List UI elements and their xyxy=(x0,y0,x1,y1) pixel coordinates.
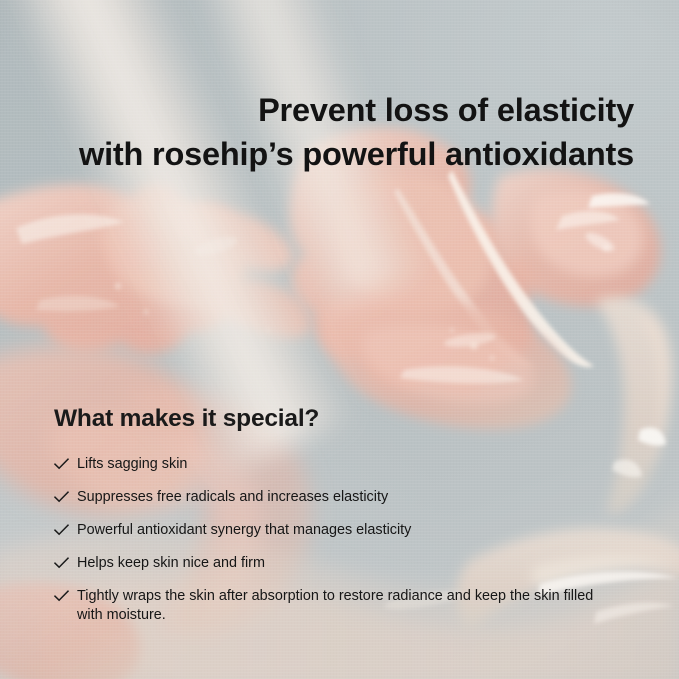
list-item-label: Powerful antioxidant synergy that manage… xyxy=(77,521,614,540)
list-item: Helps keep skin nice and firm xyxy=(54,554,614,573)
headline-line-1: Prevent loss of elasticity xyxy=(40,88,634,132)
feature-list: Lifts sagging skin Suppresses free radic… xyxy=(54,455,614,625)
list-item: Powerful antioxidant synergy that manage… xyxy=(54,521,614,540)
check-icon xyxy=(54,521,69,540)
infographic-canvas: Prevent loss of elasticity with rosehip’… xyxy=(0,0,679,679)
list-item-label: Suppresses free radicals and increases e… xyxy=(77,488,614,507)
section-title: What makes it special? xyxy=(54,405,319,433)
check-icon xyxy=(54,455,69,474)
check-icon xyxy=(54,488,69,507)
list-item: Tightly wraps the skin after absorption … xyxy=(54,587,614,625)
list-item: Lifts sagging skin xyxy=(54,455,614,474)
list-item: Suppresses free radicals and increases e… xyxy=(54,488,614,507)
list-item-label: Lifts sagging skin xyxy=(77,455,614,474)
list-item-label: Tightly wraps the skin after absorption … xyxy=(77,587,614,625)
check-icon xyxy=(54,587,69,606)
headline-line-2: with rosehip’s powerful antioxidants xyxy=(40,132,634,176)
list-item-label: Helps keep skin nice and firm xyxy=(77,554,614,573)
headline: Prevent loss of elasticity with rosehip’… xyxy=(40,88,634,176)
check-icon xyxy=(54,554,69,573)
